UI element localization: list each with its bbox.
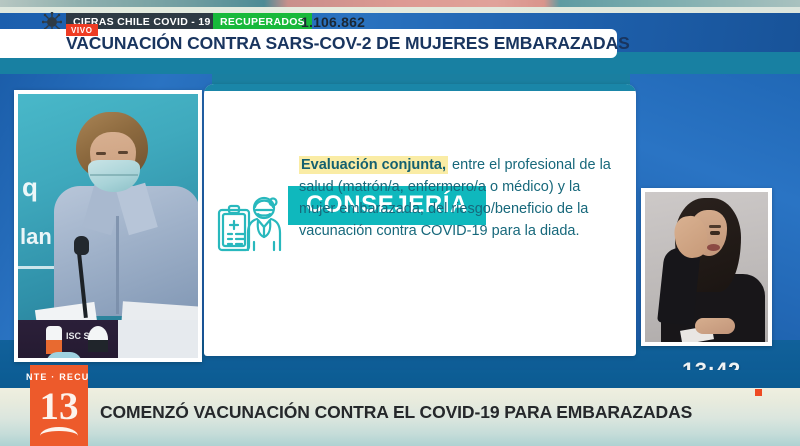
backdrop-text-2: lan xyxy=(20,224,52,250)
interpreter-eyebrow xyxy=(709,225,721,228)
news-ticker-text: NTE · RECU xyxy=(26,372,90,382)
backdrop-text-1: q xyxy=(22,172,38,203)
podium-panel xyxy=(118,320,198,358)
banner-accent-dot xyxy=(755,389,762,396)
interpreter-eye xyxy=(710,231,720,235)
slide-body-text: Evaluación conjunta, entre el profesiona… xyxy=(299,154,617,242)
press-conference-video-frame: q lan ISC SO xyxy=(18,94,198,358)
health-professional-clipboard-icon xyxy=(214,188,290,264)
speaker-shirt-placket xyxy=(116,216,119,314)
page-title: VACUNACIÓN CONTRA SARS-COV-2 DE MUJERES … xyxy=(0,33,630,54)
interpreter-mouth xyxy=(707,244,720,251)
tv-broadcast-screen: CIFRAS CHILE COVID - 19 RECUPERADOS 1.10… xyxy=(0,0,800,446)
sign-language-video-frame xyxy=(645,192,768,342)
podium-logo-right-accent xyxy=(88,340,108,352)
slide-top-accent-bar xyxy=(204,84,636,91)
interpreter-second-hand xyxy=(695,318,735,334)
top-color-strip xyxy=(0,0,800,7)
speaker-eye-right xyxy=(118,151,128,154)
speaker-eye-left xyxy=(96,152,106,155)
presentation-slide: CONSEJERÍA Evaluación conjun xyxy=(204,84,636,356)
channel-logo-swoosh xyxy=(40,427,78,436)
slide-body-highlight: Evaluación conjunta, xyxy=(299,156,448,174)
news-ticker-band xyxy=(0,370,800,388)
channel-logo-number: 13 xyxy=(30,387,88,427)
press-conference-video[interactable]: q lan ISC SO xyxy=(14,90,202,362)
live-badge: VIVO xyxy=(66,24,98,36)
microphone-head xyxy=(74,236,89,255)
sign-language-video[interactable] xyxy=(641,188,772,346)
speaker-mask-fold xyxy=(90,174,138,176)
lower-third-headline: COMENZÓ VACUNACIÓN CONTRA EL COVID-19 PA… xyxy=(100,402,692,423)
